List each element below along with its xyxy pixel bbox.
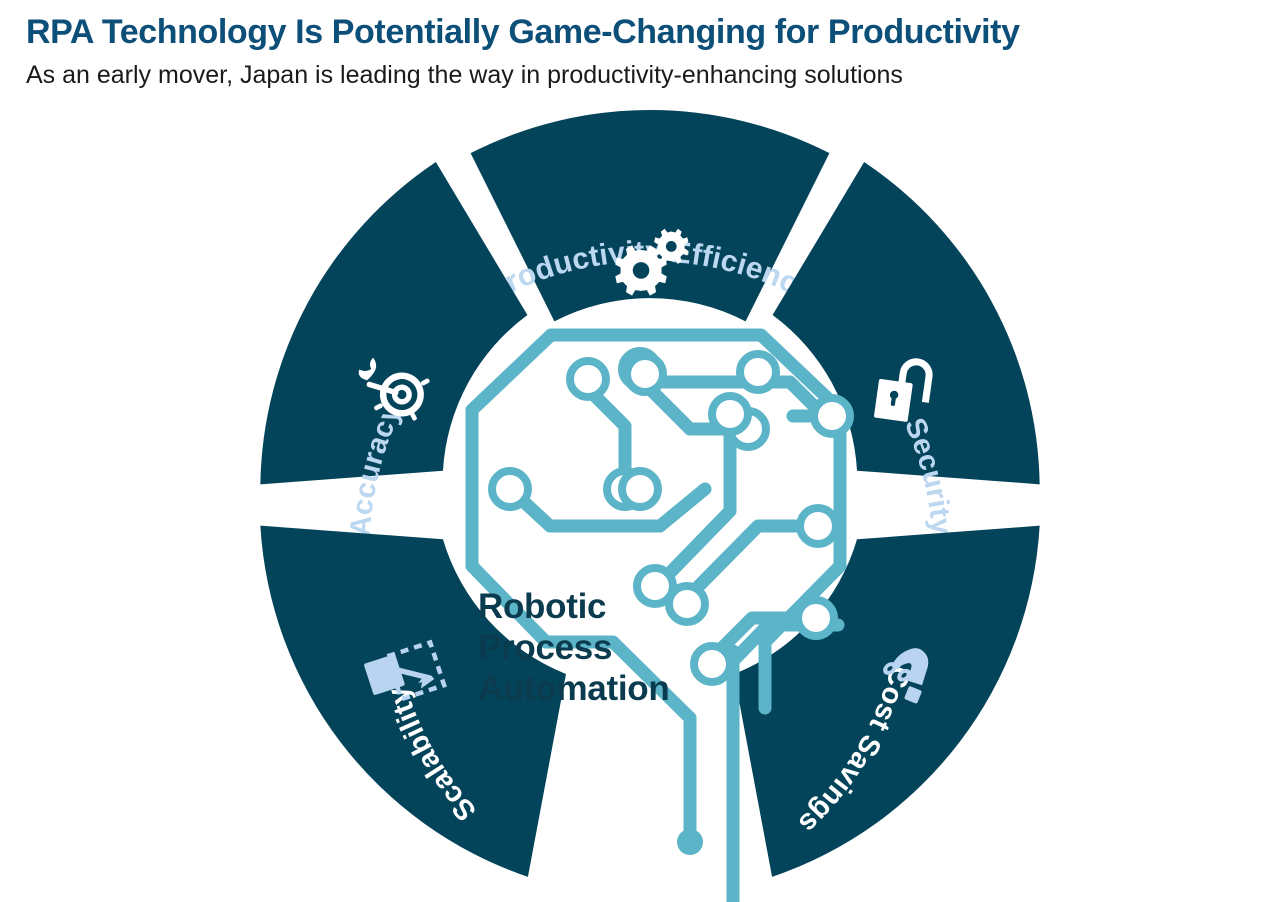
center-label-line-2: Process <box>478 628 612 667</box>
infographic-page: RPA Technology Is Potentially Game-Chang… <box>0 0 1278 902</box>
brain-node <box>694 646 730 682</box>
brain-node <box>669 586 705 622</box>
center-label-line-3: Automation <box>478 669 669 708</box>
brain-node <box>622 471 658 507</box>
brain-node <box>570 361 606 397</box>
header: RPA Technology Is Potentially Game-Chang… <box>0 0 1278 90</box>
diagram-svg: Productivity/Efficiency <box>0 96 1278 902</box>
trace-l4 <box>660 489 705 526</box>
center-label: Robotic Process Automation <box>478 587 669 708</box>
brain-node <box>627 356 663 392</box>
brain-node <box>814 398 850 434</box>
brain-node <box>492 471 528 507</box>
brain-node <box>712 396 748 432</box>
segment-productivity-efficiency[interactable]: Productivity/Efficiency <box>471 110 830 321</box>
stem-terminal-left <box>677 829 703 855</box>
brain-node <box>800 508 836 544</box>
segment-accuracy[interactable]: Accuracy <box>260 162 527 538</box>
page-title: RPA Technology Is Potentially Game-Chang… <box>26 14 1252 51</box>
brain-node <box>740 354 776 390</box>
brain-node <box>798 600 834 636</box>
segment-security[interactable]: Security <box>773 162 1040 536</box>
segment-cost-savings[interactable]: Cost Savings <box>734 526 1040 877</box>
rpa-diagram: Productivity/Efficiency <box>0 96 1278 902</box>
center-label-line-1: Robotic <box>478 587 606 626</box>
page-subtitle: As an early mover, Japan is leading the … <box>26 61 1252 90</box>
